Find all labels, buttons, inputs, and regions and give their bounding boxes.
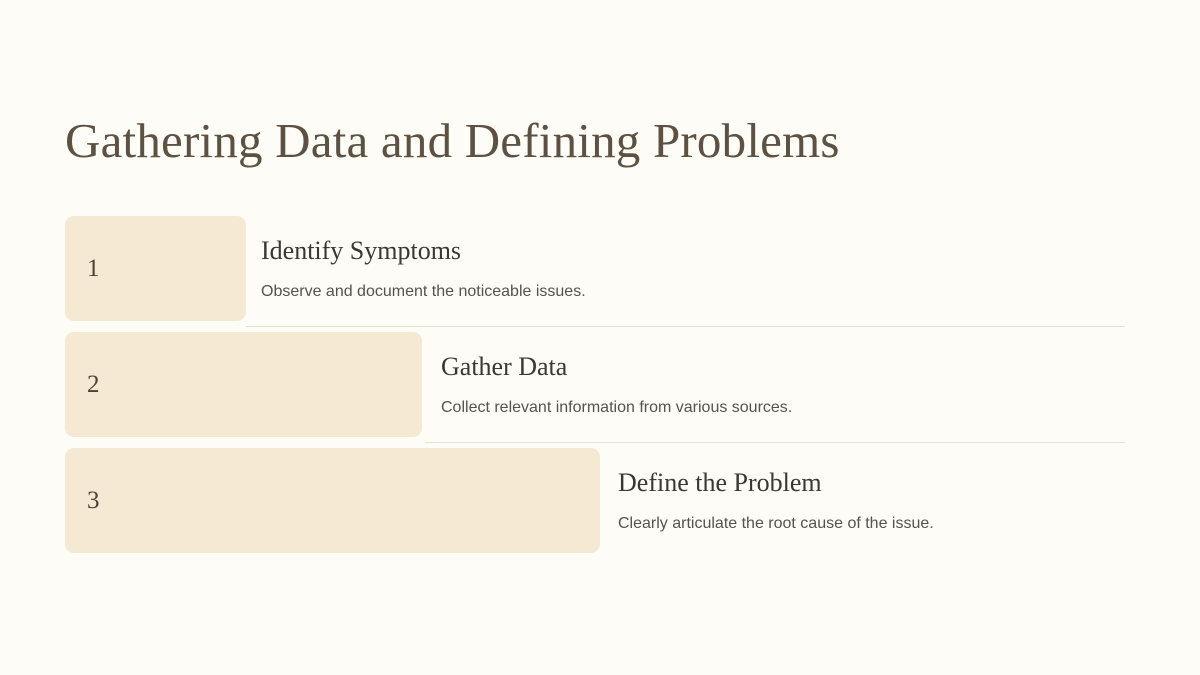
step-number-box-1[interactable]: 1 — [65, 216, 246, 321]
step-number-box-2[interactable]: 2 — [65, 332, 422, 437]
step-number-label: 2 — [65, 372, 100, 397]
page-title: Gathering Data and Defining Problems — [65, 113, 840, 169]
slide-canvas: Gathering Data and Defining Problems 1 I… — [0, 0, 1200, 675]
step-heading: Gather Data — [441, 351, 1125, 382]
step-divider — [425, 442, 1125, 443]
step-divider — [246, 326, 1125, 327]
steps-list: 1 Identify Symptoms Observe and document… — [0, 216, 1200, 553]
step-number-label: 3 — [65, 488, 100, 513]
step-heading: Identify Symptoms — [261, 235, 1125, 266]
step-row: 3 Define the Problem Clearly articulate … — [0, 448, 1200, 553]
step-row: 1 Identify Symptoms Observe and document… — [0, 216, 1200, 321]
step-row: 2 Gather Data Collect relevant informati… — [0, 332, 1200, 437]
step-description: Clearly articulate the root cause of the… — [618, 514, 1125, 535]
step-number-box-3[interactable]: 3 — [65, 448, 600, 553]
step-heading: Define the Problem — [618, 467, 1125, 498]
step-description: Observe and document the noticeable issu… — [261, 282, 1125, 303]
step-content-1: Identify Symptoms Observe and document t… — [261, 216, 1125, 321]
step-content-2: Gather Data Collect relevant information… — [441, 332, 1125, 437]
step-description: Collect relevant information from variou… — [441, 398, 1125, 419]
step-number-label: 1 — [65, 256, 100, 281]
step-content-3: Define the Problem Clearly articulate th… — [618, 448, 1125, 553]
